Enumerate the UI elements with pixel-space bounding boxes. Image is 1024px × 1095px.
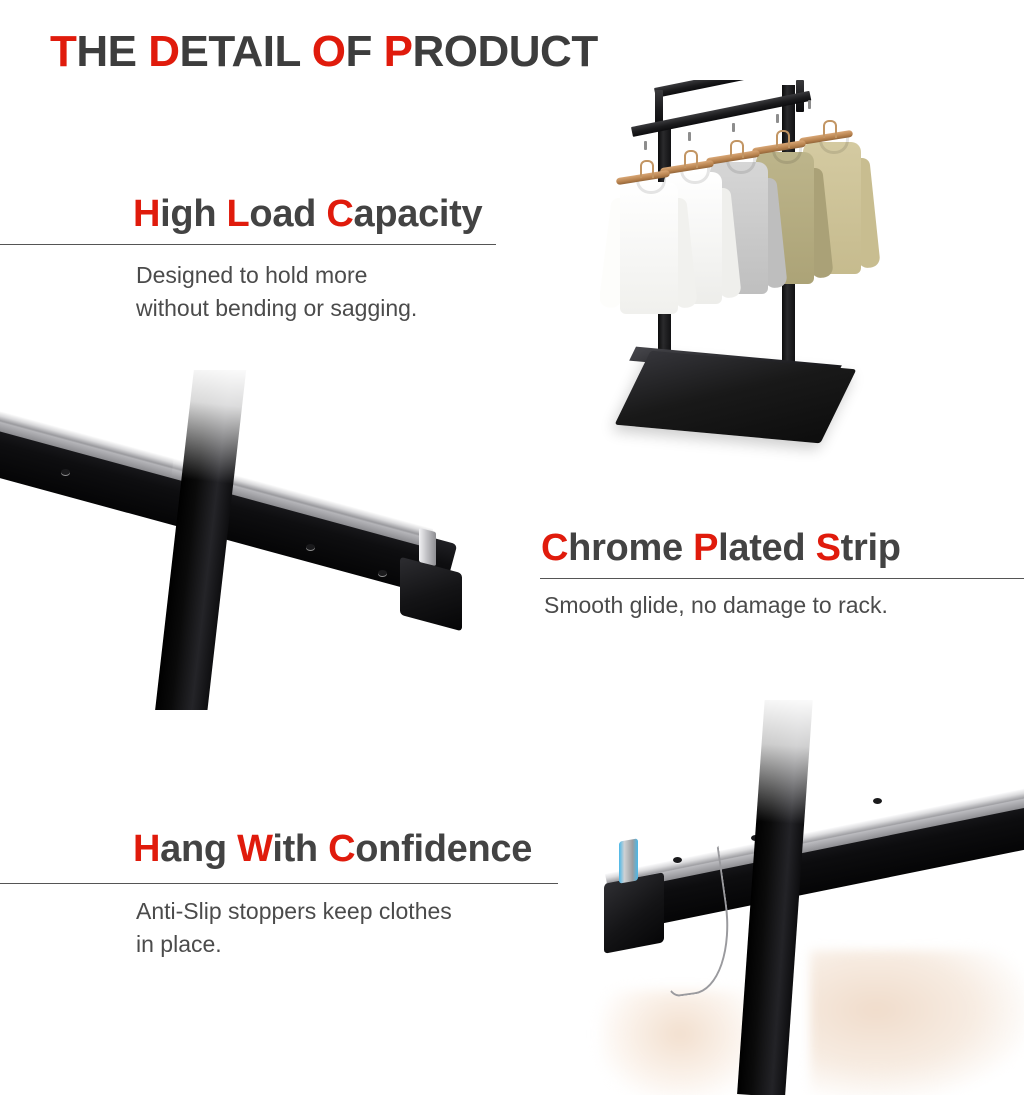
- rail-end-cap: [400, 557, 462, 632]
- rail-hook: [688, 132, 691, 141]
- accent-letter: L: [227, 193, 250, 235]
- accent-letter: H: [133, 193, 160, 235]
- accent-letter: C: [326, 193, 353, 235]
- text-run: onfidence: [355, 828, 532, 870]
- rail-hook: [808, 100, 811, 109]
- screw-hole: [61, 469, 70, 475]
- text-run: igh: [160, 193, 226, 235]
- rail-end-cap: [604, 872, 664, 954]
- accent-letter: O: [312, 27, 346, 76]
- wooden-hanger: [616, 160, 670, 186]
- text-run: HE: [76, 27, 148, 76]
- feature-divider-hang-with-confidence: [0, 883, 558, 884]
- feature-heading-hang-with-confidence: Hang With Confidence: [133, 828, 532, 871]
- accent-letter: T: [50, 27, 76, 76]
- hanger-hook: [776, 130, 790, 148]
- background-garment-blur: [810, 950, 1024, 1095]
- shirt-body: [620, 182, 678, 314]
- chrome-end-stopper: [419, 528, 436, 566]
- text-run: apacity: [354, 193, 483, 235]
- hanger-hook: [684, 150, 698, 168]
- accent-letter: P: [384, 27, 413, 76]
- rail-hook: [644, 141, 647, 150]
- accent-letter: H: [133, 828, 160, 870]
- feature-body-high-load-capacity: Designed to hold more without bending or…: [136, 259, 536, 325]
- page-title: THE DETAIL OF PRODUCT: [50, 27, 598, 77]
- text-run: trip: [841, 527, 901, 569]
- rail-hook: [732, 123, 735, 132]
- feature-body-chrome-plated-strip: Smooth glide, no damage to rack.: [544, 589, 1014, 622]
- feature-heading-chrome-plated-strip: Chrome Plated Strip: [541, 527, 901, 570]
- product-photo-clothing-rack: [600, 80, 1024, 462]
- feature-heading-high-load-capacity: High Load Capacity: [133, 193, 482, 236]
- text-run: oad: [249, 193, 326, 235]
- rack-rail-upper: [654, 80, 801, 98]
- accent-letter: W: [237, 828, 272, 870]
- hanger-hook: [730, 140, 744, 158]
- feature-divider-high-load-capacity: [0, 244, 496, 245]
- text-run: ith: [272, 828, 328, 870]
- wooden-hanger: [752, 130, 806, 156]
- wooden-hanger: [799, 120, 853, 146]
- hanger-hook: [823, 120, 837, 138]
- feature-body-hang-with-confidence: Anti-Slip stoppers keep clothes in place…: [136, 895, 566, 961]
- product-photo-anti-slip-stopper: [560, 700, 1024, 1095]
- screw-hole: [378, 570, 387, 576]
- accent-letter: S: [816, 527, 841, 569]
- accent-letter: D: [148, 27, 179, 76]
- text-run: hrome: [568, 527, 693, 569]
- screw-hole: [306, 544, 315, 550]
- rail-hook: [776, 114, 779, 123]
- text-run: ang: [160, 828, 237, 870]
- text-run: RODUCT: [413, 27, 598, 76]
- product-photo-chrome-strip: [0, 370, 520, 710]
- text-run: lated: [718, 527, 815, 569]
- accent-letter: P: [693, 527, 718, 569]
- product-detail-page: THE DETAIL OF PRODUCT High Load Capacity…: [0, 0, 1024, 1095]
- wooden-hanger: [706, 140, 760, 166]
- anti-slip-stopper: [619, 838, 638, 883]
- text-run: F: [346, 27, 384, 76]
- accent-letter: C: [541, 527, 568, 569]
- background-garment-blur: [600, 990, 760, 1095]
- text-run: ETAIL: [180, 27, 312, 76]
- screw-hole: [873, 798, 882, 804]
- hanger-hook: [640, 160, 654, 178]
- accent-letter: C: [328, 828, 355, 870]
- feature-divider-chrome-plated-strip: [540, 578, 1024, 579]
